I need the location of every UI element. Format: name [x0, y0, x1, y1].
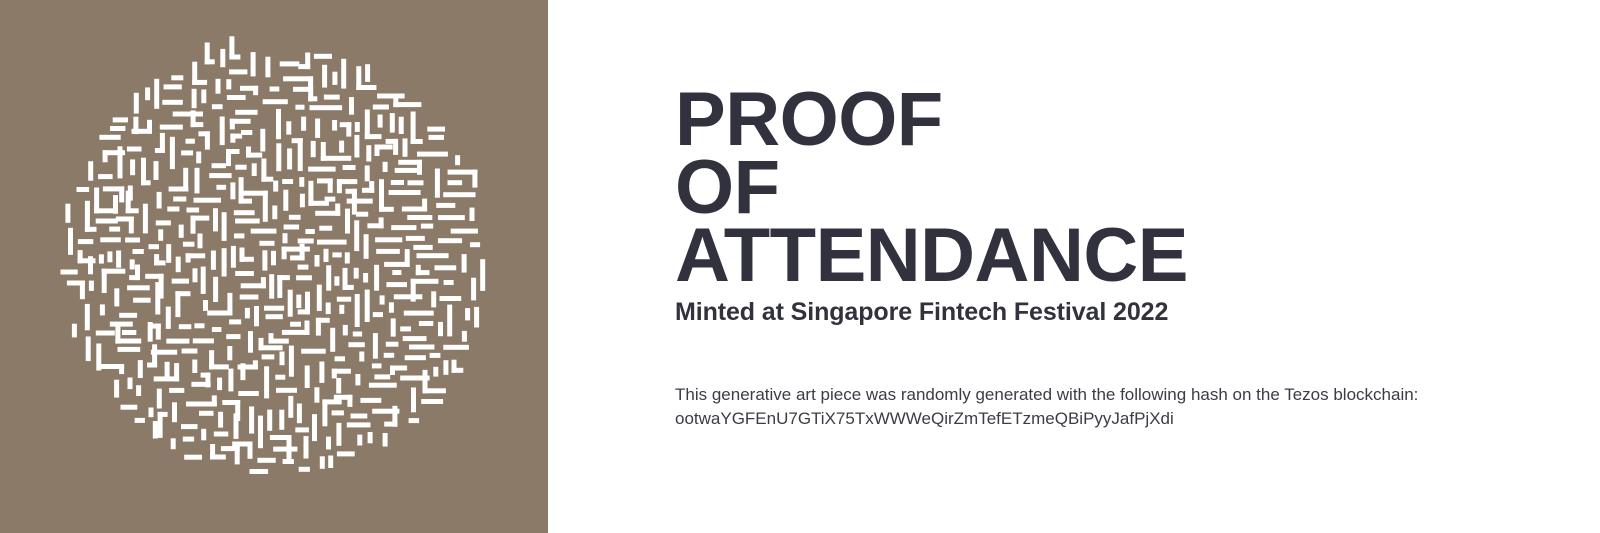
title-line-2: OF	[675, 154, 1575, 222]
generative-art-canvas	[0, 0, 548, 533]
description-text: This generative art piece was randomly g…	[675, 383, 1555, 407]
generative-art-panel	[0, 0, 548, 533]
event-subtitle: Minted at Singapore Fintech Festival 202…	[675, 298, 1168, 327]
page-title: PROOF OF ATTENDANCE	[675, 86, 1575, 290]
token-hash: ootwaYGFEnU7GTiX75TxWWWeQirZmTefETzmeQBi…	[675, 407, 1555, 431]
title-line-3: ATTENDANCE	[675, 222, 1575, 290]
title-line-1: PROOF	[675, 86, 1575, 154]
description-block: This generative art piece was randomly g…	[675, 383, 1555, 431]
certificate-content-panel: PROOF OF ATTENDANCE Minted at Singapore …	[548, 0, 1600, 533]
proof-of-attendance-certificate: PROOF OF ATTENDANCE Minted at Singapore …	[0, 0, 1600, 533]
